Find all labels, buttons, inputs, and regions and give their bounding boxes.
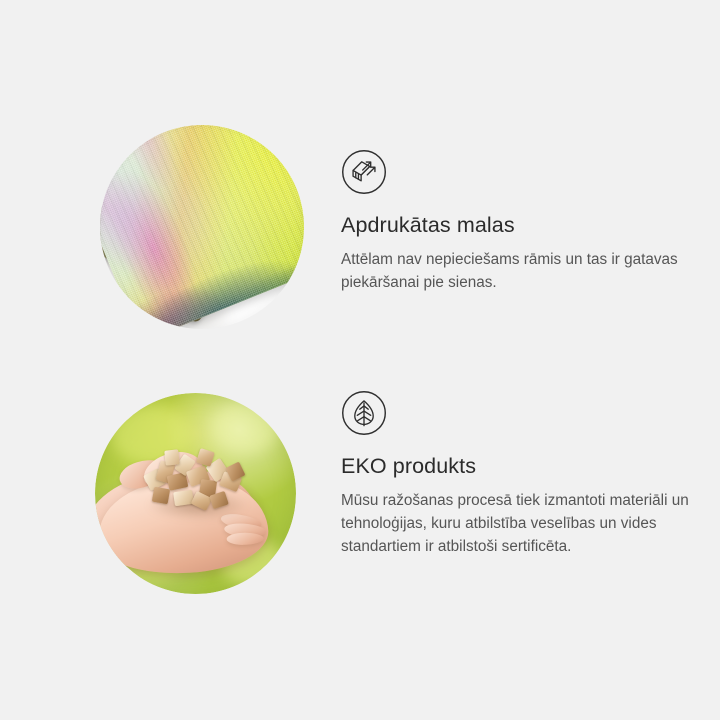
grass-background (95, 393, 296, 594)
wood-chip (152, 487, 171, 504)
feature-title: Apdrukātas malas (341, 213, 691, 239)
hands-holding-wood-chips-photo (95, 393, 296, 594)
canvas-printed-face (100, 125, 304, 329)
canvas-print-corner-photo (100, 125, 304, 329)
wood-chip (173, 490, 193, 506)
leaf-icon (341, 390, 387, 436)
canvas-highlight (100, 125, 304, 329)
wood-chip (164, 449, 180, 466)
promo-page: Apdrukātas malas Attēlam nav nepieciešam… (0, 0, 720, 720)
feature-printed-edges-text: Apdrukātas malas Attēlam nav nepieciešam… (341, 149, 691, 294)
wood-chip-pile (139, 445, 256, 521)
canvas-wrap-edges-icon (341, 149, 387, 195)
feature-title: EKO produkts (341, 454, 693, 480)
finger (226, 533, 263, 546)
feature-description: Attēlam nav nepieciešams rāmis un tas ir… (341, 248, 691, 295)
feature-description: Mūsu ražošanas procesā tiek izmantoti ma… (341, 489, 693, 559)
feature-eco-product-text: EKO produkts Mūsu ražošanas procesā tiek… (341, 390, 693, 559)
white-round-backdrop (100, 125, 304, 329)
